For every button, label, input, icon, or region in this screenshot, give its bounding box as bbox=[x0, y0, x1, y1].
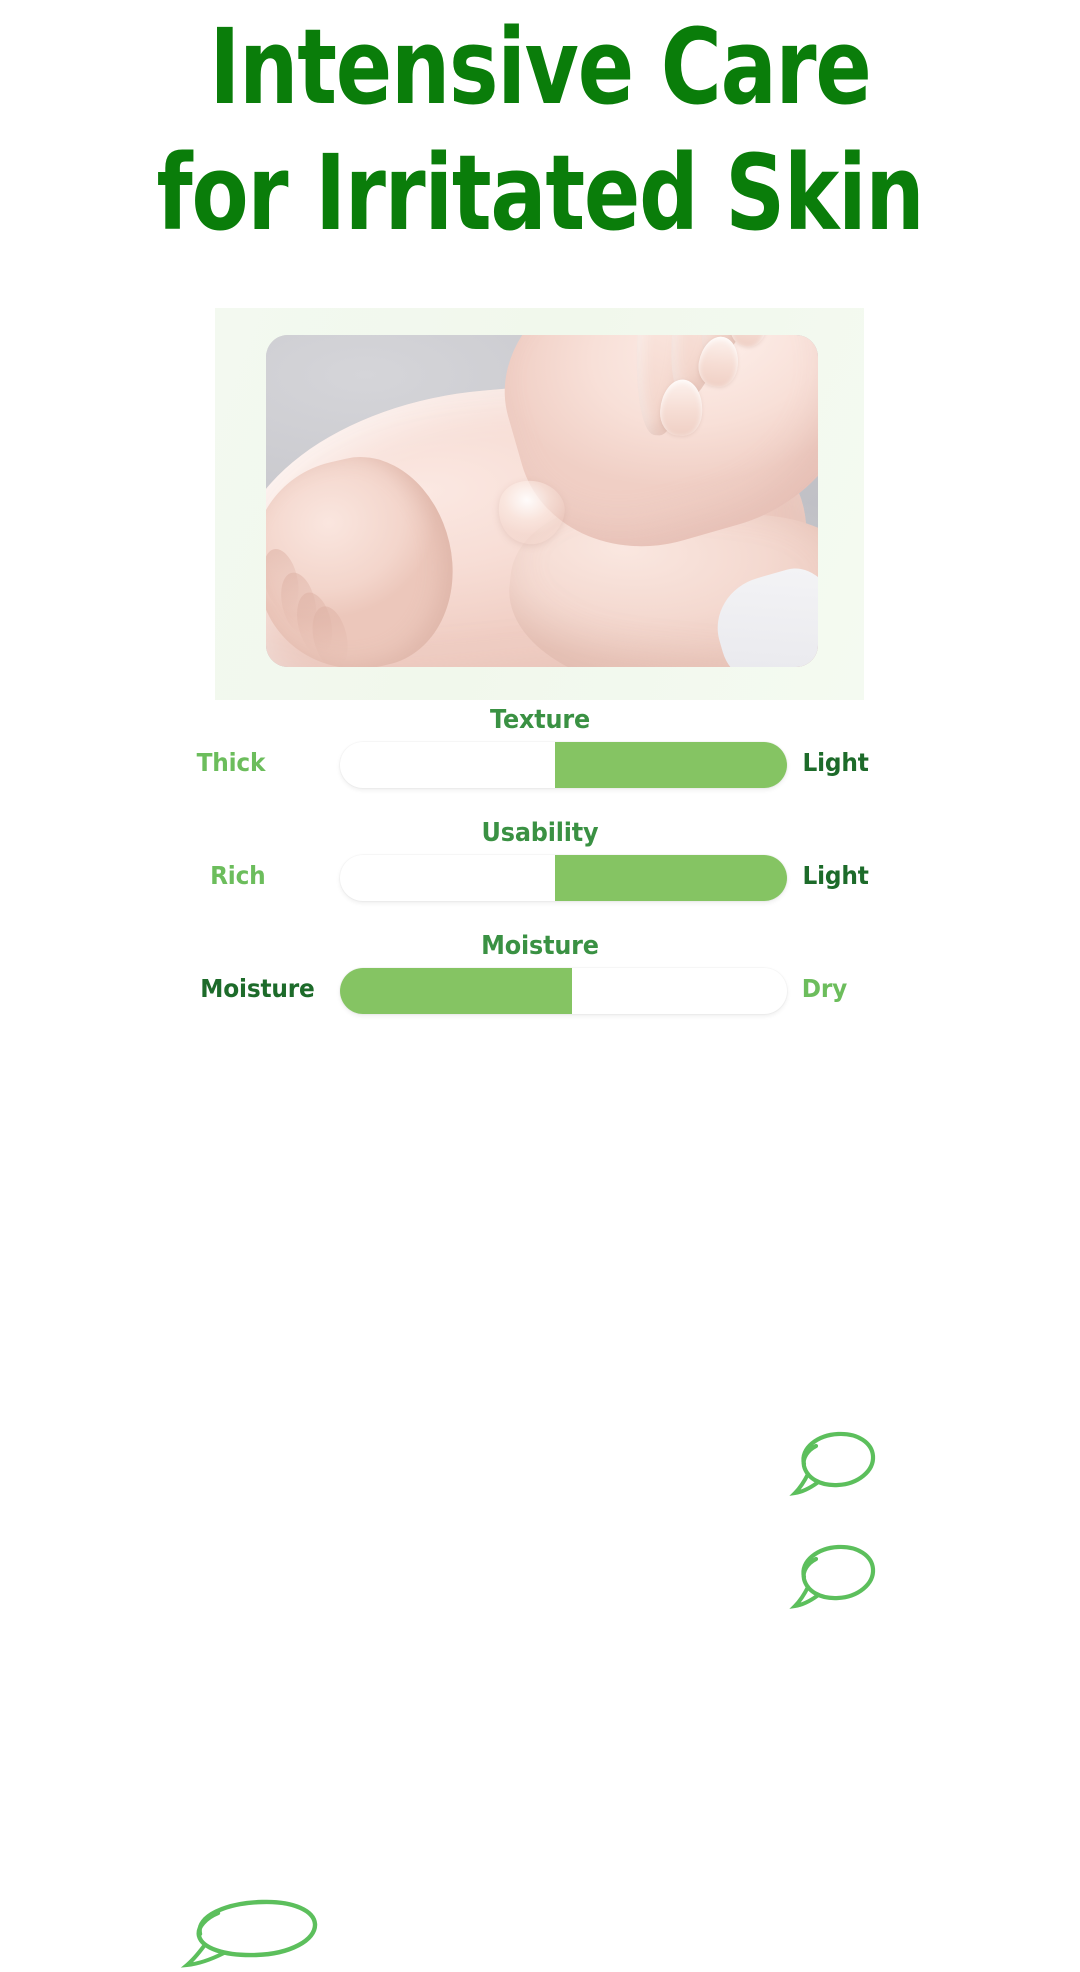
photo-panel bbox=[215, 308, 864, 700]
attribute-sliders: Texture Thick Light Usability Rich Light bbox=[0, 700, 1080, 1039]
slider-track-usability[interactable] bbox=[340, 855, 787, 901]
slider-label-moisture: Moisture bbox=[200, 974, 314, 1003]
slider-row-texture: Texture Thick Light bbox=[0, 700, 1080, 813]
product-usage-photo bbox=[266, 335, 818, 667]
handdrawn-circle-icon-moisture bbox=[178, 1894, 320, 1972]
page-title: Intensive Care for Irritated Skin bbox=[0, 18, 1080, 244]
slider-fill-usability bbox=[555, 855, 787, 901]
slider-track-moisture[interactable] bbox=[340, 968, 787, 1014]
handdrawn-circle-icon-usability bbox=[786, 1539, 878, 1613]
slider-label-rich: Rich bbox=[210, 861, 265, 890]
slider-title-texture: Texture bbox=[43, 705, 1037, 735]
slider-row-usability: Usability Rich Light bbox=[0, 813, 1080, 926]
slider-title-moisture: Moisture bbox=[43, 931, 1037, 961]
slider-row-moisture: Moisture Moisture Dry bbox=[0, 926, 1080, 1039]
slider-fill-texture bbox=[555, 742, 787, 788]
slider-label-dry: Dry bbox=[802, 974, 847, 1003]
slider-label-light-texture: Light bbox=[802, 748, 868, 777]
slider-label-light-usability: Light bbox=[802, 861, 868, 890]
handdrawn-circle-icon-texture bbox=[786, 1426, 878, 1500]
slider-track-texture[interactable] bbox=[340, 742, 787, 788]
slider-label-thick: Thick bbox=[197, 748, 266, 777]
title-line-2: for Irritated Skin bbox=[108, 144, 972, 244]
knuckles-shape bbox=[266, 441, 473, 667]
slider-fill-moisture bbox=[340, 968, 572, 1014]
slider-title-usability: Usability bbox=[43, 818, 1037, 848]
title-line-1: Intensive Care bbox=[108, 18, 972, 118]
